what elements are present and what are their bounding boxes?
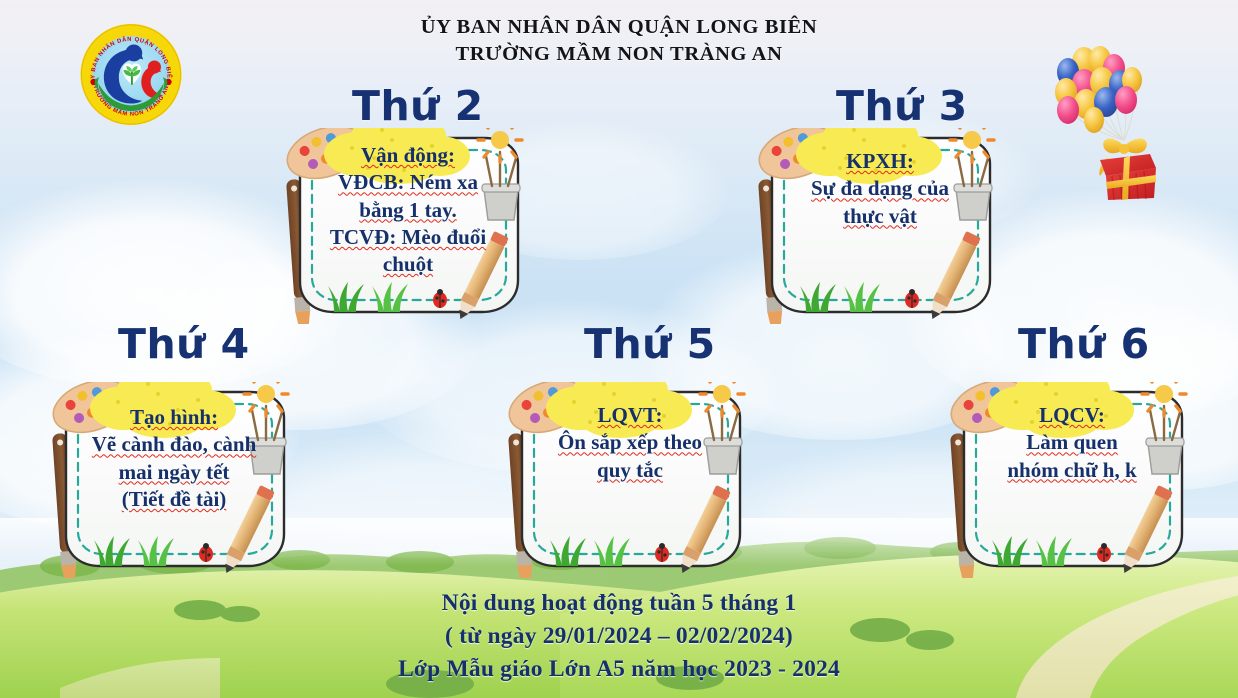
balloons-gift-decoration <box>1040 40 1210 200</box>
day-title-thu-3: Thứ 3 <box>836 82 968 130</box>
card-board <box>744 128 1016 324</box>
footer-line-2: ( từ ngày 29/01/2024 – 02/02/2024) <box>0 620 1238 653</box>
day-card-thu-3[interactable]: KPXH: Sự đa dạng của thực vật <box>744 128 1016 324</box>
day-card-thu-5[interactable]: LQVT: Ôn sắp xếp theo quy tắc <box>494 382 766 578</box>
footer-line-1: Nội dung hoạt động tuần 5 tháng 1 <box>0 587 1238 620</box>
day-card-thu-6[interactable]: LQCV: Làm quen nhóm chữ h, k <box>936 382 1208 578</box>
day-card-thu-2[interactable]: Vận động: VĐCB: Ném xa bằng 1 tay. TCVĐ:… <box>272 128 544 324</box>
day-title-thu-4: Thứ 4 <box>118 320 250 368</box>
footer-line-3: Lớp Mẫu giáo Lớn A5 năm học 2023 - 2024 <box>0 653 1238 686</box>
poster-stage: ỦY BAN NHÂN DÂN QUẬN LONG BIÊN TRƯỜNG MẦ… <box>0 0 1238 698</box>
card-board <box>494 382 766 578</box>
day-card-thu-4[interactable]: Tạo hình: Vẽ cành đào, cành mai ngày tết… <box>38 382 310 578</box>
day-title-thu-6: Thứ 6 <box>1018 320 1150 368</box>
poster-footer: Nội dung hoạt động tuần 5 tháng 1 ( từ n… <box>0 587 1238 686</box>
day-title-thu-2: Thứ 2 <box>352 82 484 130</box>
card-board <box>38 382 310 578</box>
school-logo: ỦY BAN NHÂN DÂN QUẬN LONG BIÊN TRƯỜNG MẦ… <box>76 23 186 126</box>
day-title-thu-5: Thứ 5 <box>584 320 716 368</box>
card-board <box>936 382 1208 578</box>
card-board <box>272 128 544 324</box>
